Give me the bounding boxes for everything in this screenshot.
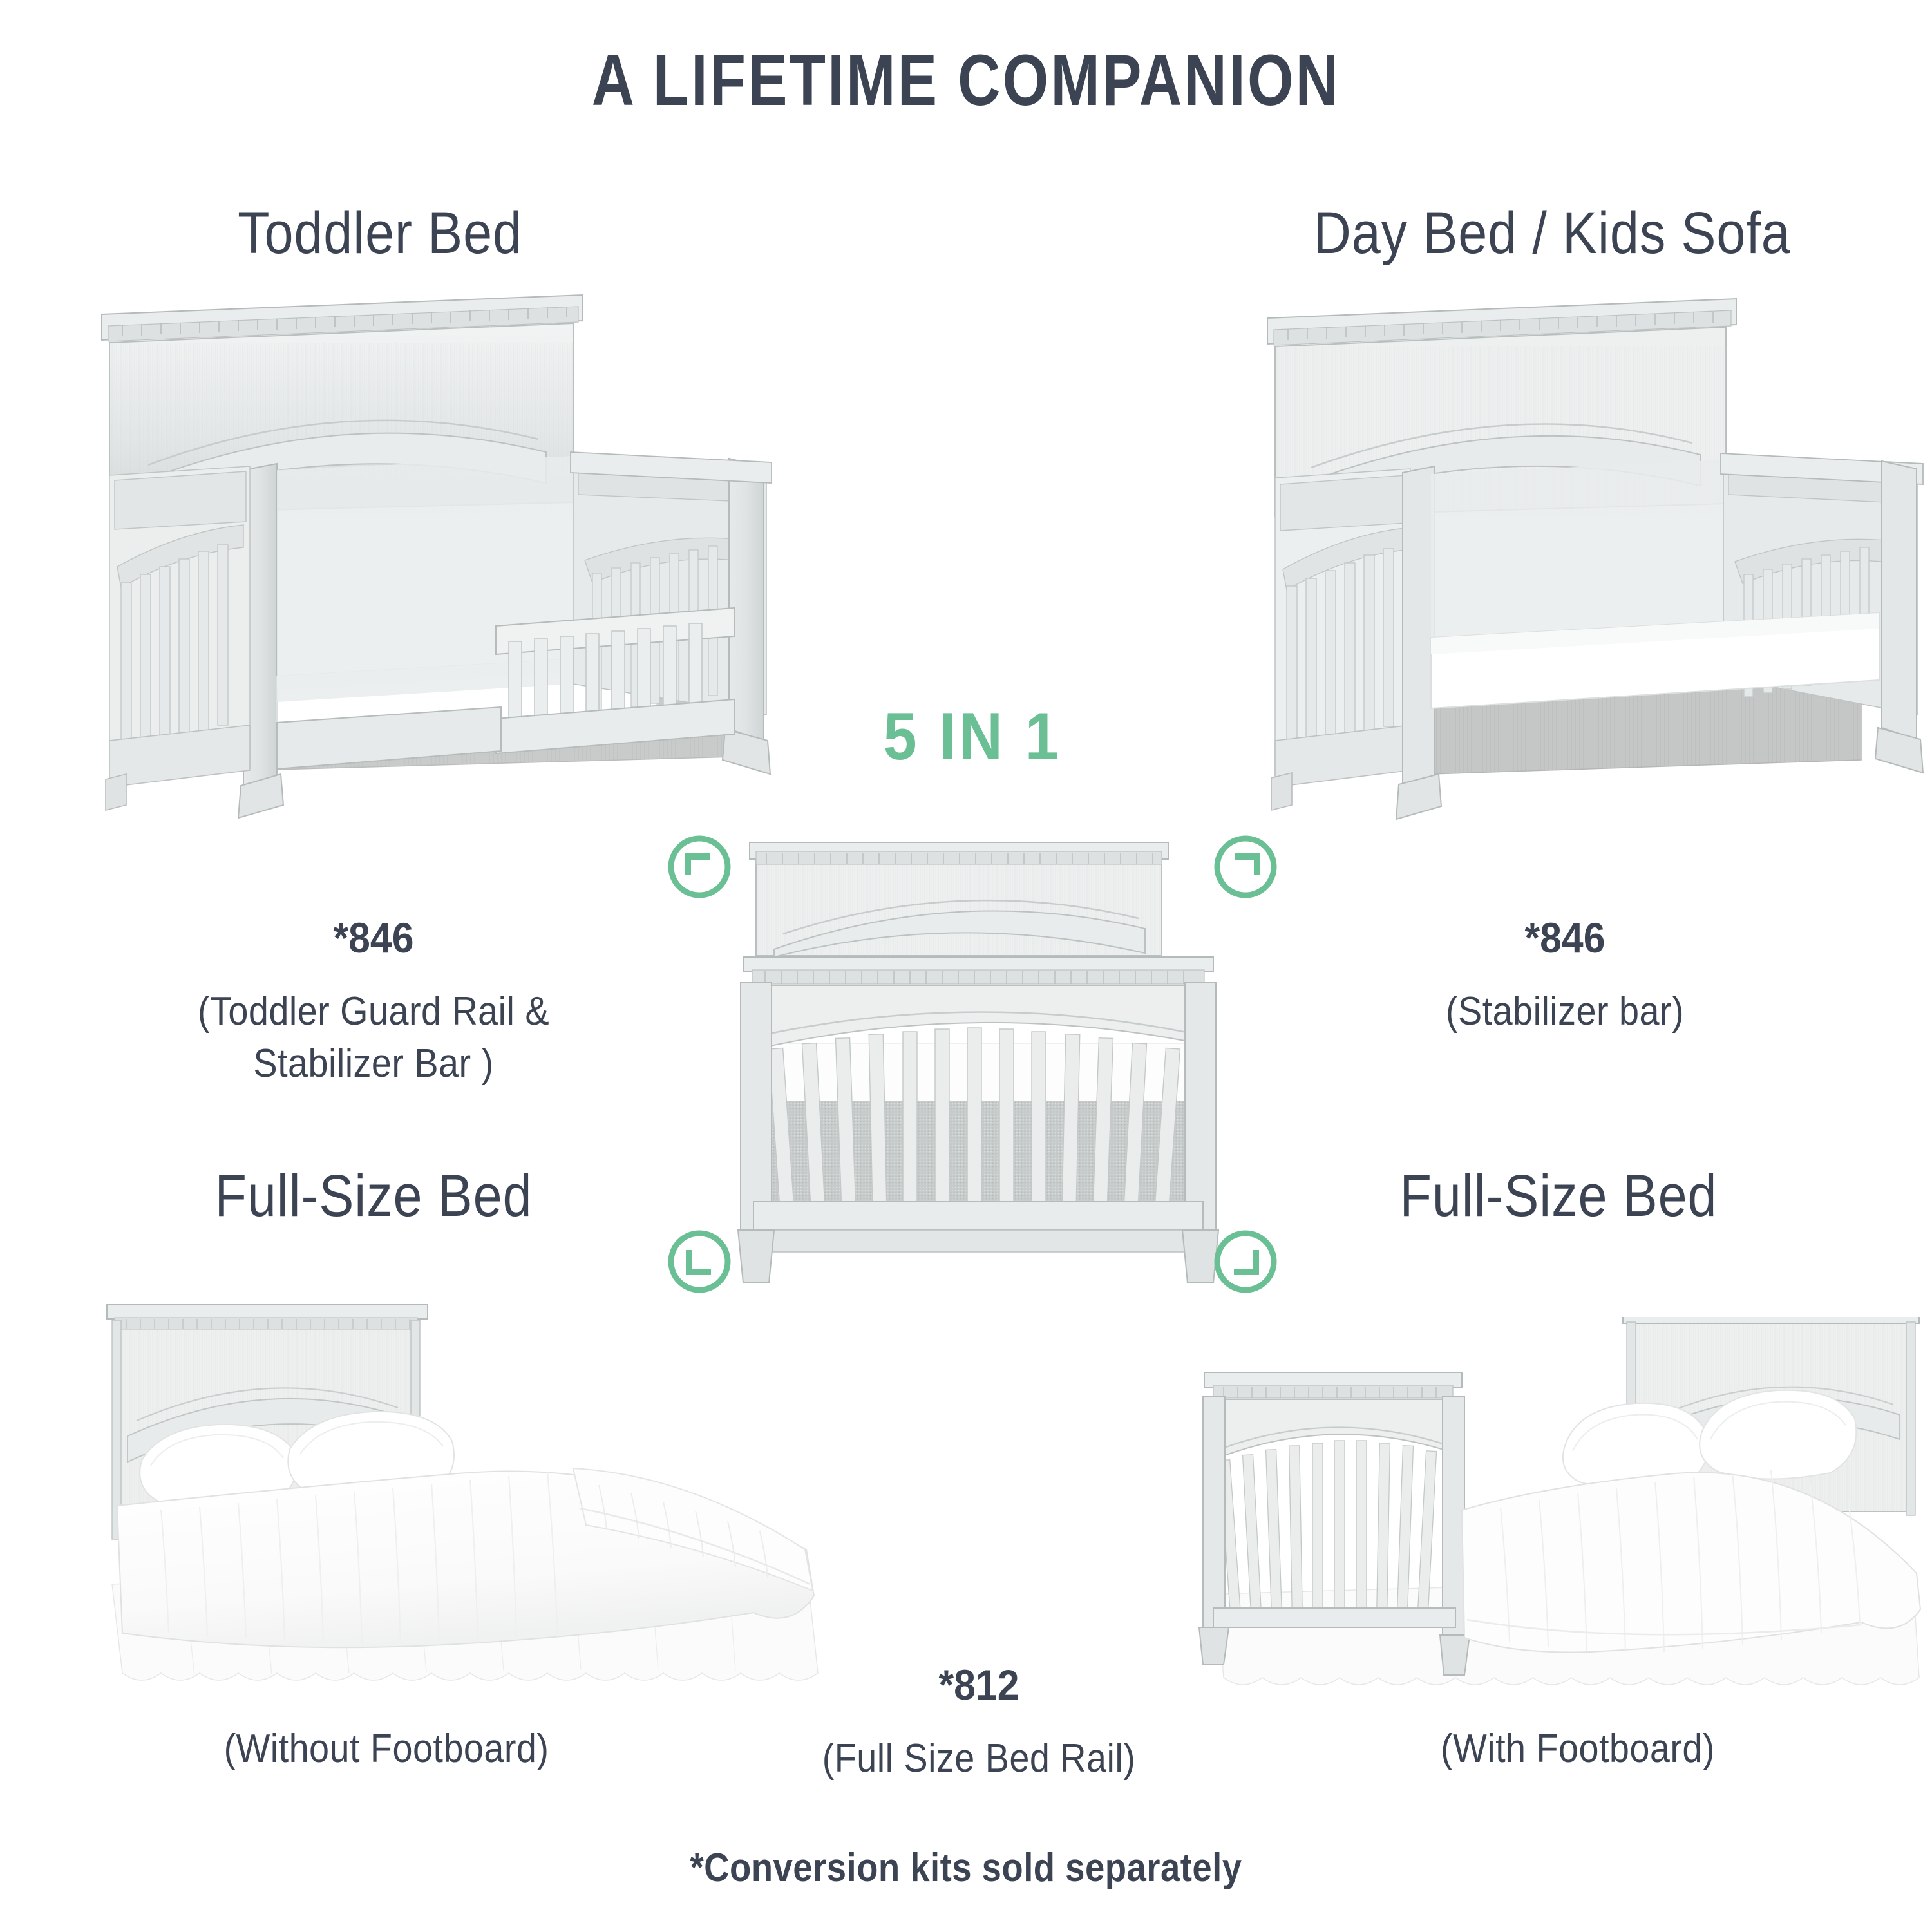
corner-bracket-top-left-icon — [665, 832, 734, 902]
heading-day-bed: Day Bed / Kids Sofa — [1218, 200, 1886, 267]
page-title: A LIFETIME COMPANION — [174, 39, 1758, 122]
full-size-bed-with-footboard-illustration — [1179, 1317, 1932, 1719]
caption-sub-bed-rail: (Full Size Bed Rail) — [776, 1732, 1182, 1785]
corner-bracket-bottom-right-icon — [1211, 1227, 1280, 1296]
day-bed-illustration — [1262, 296, 1932, 824]
footnote-conversion-kits: *Conversion kits sold separately — [116, 1845, 1816, 1891]
caption-day-bed: *846 (Stabilizer bar) — [1204, 898, 1926, 1050]
caption-toddler-bed: *846 (Toddler Guard Rail & Stabilizer Ba… — [13, 898, 734, 1103]
caption-bed-rail: *812 (Full Size Bed Rail) — [753, 1645, 1204, 1797]
caption-code-toddler: *846 — [42, 911, 705, 965]
corner-bracket-bottom-left-icon — [665, 1227, 734, 1296]
toddler-bed-illustration — [84, 290, 799, 824]
heading-toddler-bed: Toddler Bed — [46, 200, 714, 267]
caption-code-bed-rail: *812 — [772, 1658, 1186, 1712]
caption-full-bed-left: (Without Footboard) — [64, 1710, 708, 1788]
caption-full-bed-right: (With Footboard) — [1256, 1710, 1900, 1788]
heading-full-size-bed-right: Full-Size Bed — [1230, 1162, 1888, 1230]
caption-sub-toddler: (Toddler Guard Rail & Stabilizer Bar ) — [49, 985, 698, 1091]
caption-sub-full-bed-right: (With Footboard) — [1288, 1723, 1868, 1776]
caption-sub-daybed: (Stabilizer bar) — [1240, 985, 1889, 1038]
heading-full-size-bed-left: Full-Size Bed — [45, 1162, 703, 1230]
infographic-page: A LIFETIME COMPANION Toddler Bed Day Bed… — [0, 0, 1932, 1932]
caption-code-daybed: *846 — [1233, 911, 1897, 965]
convertible-crib-illustration — [734, 831, 1224, 1301]
corner-bracket-top-right-icon — [1211, 832, 1280, 902]
five-in-one-badge: 5 IN 1 — [816, 699, 1129, 775]
caption-sub-full-bed-left: (Without Footboard) — [97, 1723, 676, 1776]
